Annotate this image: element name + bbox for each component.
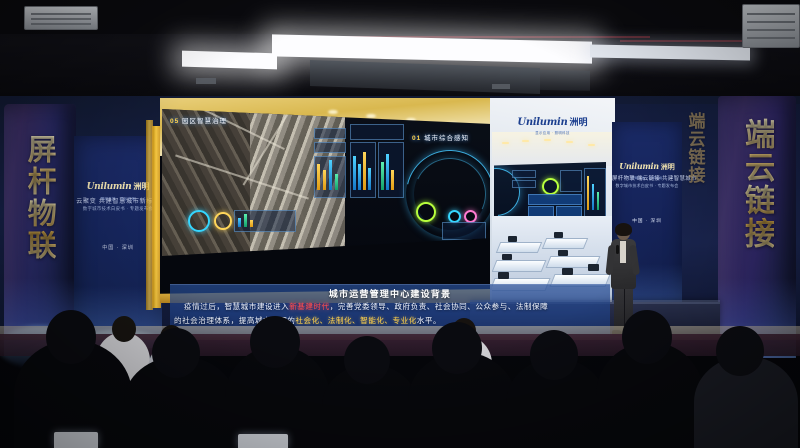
audience-head-4 [46, 310, 96, 364]
gold-frame-post-left-inner [146, 120, 153, 310]
oc-panel-3 [560, 170, 582, 192]
oc-panel-2 [512, 180, 536, 188]
ceiling-air-conditioner-right [742, 4, 800, 48]
led-screen-heading: 05 园区智慧治理 [170, 115, 227, 125]
oc-curved-video-wall [494, 162, 606, 220]
dashboard-donut-green [416, 202, 436, 222]
overlay-line1-before: 疫情过后，智慧城市建设进入 [184, 302, 289, 311]
led-section-title: 城市综合感知 [424, 135, 469, 142]
dashboard-bar-2 [323, 170, 326, 190]
audience-head-9 [530, 330, 578, 380]
ceiling-light-strip-left [182, 51, 277, 70]
overlay-line-1: 疫情过后，智慧城市建设进入新基建时代，完善党委领导、政府负责、社会协同、公众参与… [184, 301, 602, 312]
unilumin-logo-subtitle-led: 显示应用 · 照明科技 [490, 130, 615, 135]
mid-right-pillar-vertical-text: 端云链接 [684, 112, 704, 184]
dashboard-bar-10 [386, 154, 389, 190]
dashboard-bar-9 [381, 162, 384, 190]
led-screen-heading-number: 05 [170, 118, 179, 125]
overlay-line2-highlight: 社会化、法制化、智能化、专业化 [295, 316, 416, 325]
right-panel-subheadline: 数字城市技术白皮书 · 专题发布会 [612, 183, 682, 189]
left-pillar-vertical-text: 屏杆物联 [24, 134, 56, 262]
audience-head-10 [622, 310, 672, 364]
oc-bar-1 [587, 176, 589, 210]
overlay-line-2: 的社会治理体系，提高城市治理的社会化、法制化、智能化、专业化水平。 [174, 315, 602, 326]
oc-monitor-1 [508, 236, 517, 242]
oc-monitor-2 [554, 232, 563, 238]
overlay-title: 城市运营管理中心建设背景 [170, 287, 610, 300]
dashboard-bar-3 [329, 160, 332, 190]
overlay-line1-after: ，完善党委领导、政府负责、社会协同、公众参与、法制保障 [330, 302, 549, 311]
dashboard-panel-b [314, 142, 346, 153]
dashboard-panel-g [442, 222, 486, 240]
dashboard-bar-8 [368, 168, 371, 190]
dashboard-panel-d [350, 124, 404, 140]
oc-panel-4 [528, 194, 582, 205]
microphone [616, 245, 619, 254]
led-screen-heading-text: 园区智慧治理 [182, 118, 227, 125]
led-screen-section-heading: 01 城市综合感知 [412, 132, 469, 142]
oc-panel-1 [512, 170, 536, 178]
oc-bar-3 [597, 192, 599, 210]
dashboard-bar-1 [317, 164, 320, 190]
led-video-wall: 05 园区智慧治理 01 城市综合感知 [160, 98, 615, 303]
oc-bar-2 [592, 184, 594, 210]
audience-head-5 [152, 328, 200, 378]
dashboard-bar-12 [238, 218, 241, 227]
dashboard-bar-14 [250, 220, 253, 227]
audience-head-7 [344, 336, 390, 384]
ceiling-light-strip-main [272, 34, 592, 63]
dashboard-donut-kpi-1 [188, 210, 210, 232]
oc-monitor-3 [502, 254, 512, 260]
oc-monitor-5 [498, 272, 509, 279]
dashboard-donut-kpi-2 [214, 212, 232, 230]
ceiling [0, 0, 800, 104]
audience-head-6 [250, 316, 300, 368]
unilumin-wordmark-right: Unilumin [619, 161, 659, 171]
oc-desk-1 [496, 242, 542, 253]
ceiling-panel-2 [500, 69, 590, 91]
right-pillar-banner: 端云链接 [718, 96, 796, 358]
right-panel-headline: 屏杆物联 端云链接 共建智慧城市 [612, 174, 682, 182]
oc-ceiling [492, 132, 614, 166]
dashboard-panel-a [314, 128, 346, 139]
led-section-number: 01 [412, 135, 421, 142]
dashboard-bar-11 [391, 170, 394, 190]
ceiling-beam-top [0, 0, 800, 34]
overlay-line2-after: 水平。 [417, 316, 441, 325]
oc-desk-3 [492, 260, 546, 272]
ceiling-air-conditioner-left [24, 6, 98, 30]
audience-head-8 [432, 322, 482, 374]
screenshot-root: 屏杆物联 Unilumin洲明 照明科技 · 显示应用 云聚变 共建智慧城市新标… [0, 0, 800, 448]
laptop-1 [54, 432, 98, 448]
oc-donut [542, 178, 559, 195]
unilumin-chinese-name-right: 洲明 [661, 162, 675, 171]
unilumin-wordmark: Unilumin [87, 182, 132, 192]
dashboard-bar-4 [335, 174, 338, 190]
dashboard-bar-7 [363, 152, 366, 190]
dashboard-bar-6 [358, 164, 361, 190]
overlay-line1-highlight: 新基建时代 [289, 302, 329, 311]
ceiling-fixture-b [492, 84, 510, 89]
laptop-2 [238, 434, 288, 448]
presenter-hair [615, 223, 632, 236]
audience-head-1 [112, 316, 136, 342]
oc-desk-2 [542, 238, 588, 249]
presenter-shirt [620, 241, 626, 263]
ceiling-light-strip-right [590, 44, 750, 60]
oc-monitor-7 [588, 264, 599, 271]
ceiling-fixture-a [196, 78, 216, 84]
oc-monitor-4 [558, 250, 568, 256]
dashboard-bar-13 [244, 214, 247, 227]
led-ceiling-light-1 [328, 110, 338, 114]
led-ceiling-light-2 [366, 114, 376, 118]
oc-monitor-6 [562, 268, 573, 275]
right-pillar-vertical-text: 端云链接 [740, 118, 774, 250]
dashboard-bar-5 [353, 156, 356, 190]
operations-center-photo [492, 132, 614, 300]
unilumin-chinese-name-led: 洲明 [570, 118, 588, 128]
unilumin-wordmark-led: Unilumin [517, 117, 567, 128]
led-dashboard-screen: 05 园区智慧治理 01 城市综合感知 [162, 106, 492, 256]
audience-head-11 [716, 326, 764, 376]
unilumin-logo-on-led-wall: Unilumin洲明 显示应用 · 照明科技 [490, 112, 615, 135]
